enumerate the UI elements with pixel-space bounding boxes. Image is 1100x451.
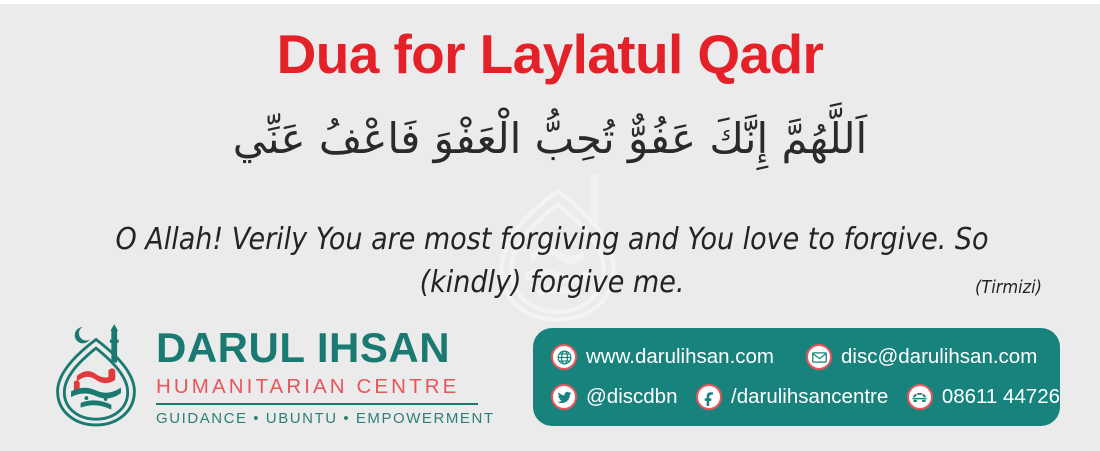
twitter-handle: @discdbn	[586, 385, 677, 409]
telephone-icon	[907, 384, 933, 410]
mosque-dome-emblem-icon	[48, 324, 144, 428]
english-translation: O Allah! Verily You are most forgiving a…	[92, 219, 1012, 304]
logo-subtitle: HUMANITARIAN CENTRE	[156, 369, 495, 400]
contact-row-social: @discdbn /darulihsancentre	[551, 377, 1060, 417]
hadith-attribution: (Tirmizi)	[975, 277, 1042, 298]
twitter-contact[interactable]: @discdbn	[551, 384, 677, 410]
contact-panel: www.darulihsan.com disc@darulihsan.com	[533, 328, 1060, 426]
arabic-dua-text: اَللَّهُمَّ إِنَّكَ عَفُوٌّ تُحِبُّ الْع…	[0, 106, 1100, 171]
globe-icon	[551, 344, 577, 370]
page-title: Dua for Laylatul Qadr	[0, 22, 1100, 86]
twitter-bird-icon	[551, 384, 577, 410]
contact-row-primary: www.darulihsan.com disc@darulihsan.com	[551, 337, 1060, 377]
email-contact[interactable]: disc@darulihsan.com	[806, 344, 1037, 370]
dua-poster: Dua for Laylatul Qadr اَللَّهُمَّ إِنَّك…	[0, 0, 1100, 451]
facebook-icon	[696, 384, 722, 410]
facebook-contact[interactable]: /darulihsancentre	[696, 384, 888, 410]
website-label: www.darulihsan.com	[586, 345, 774, 369]
facebook-page: /darulihsancentre	[731, 385, 888, 409]
logo-tagline: GUIDANCE • UBUNTU • EMPOWERMENT	[156, 405, 495, 427]
top-edge-strip	[0, 0, 1100, 4]
logo-name: DARUL IHSAN	[156, 327, 495, 369]
phone-contact[interactable]: 08611 44726	[907, 384, 1060, 410]
logo-text-block: DARUL IHSAN HUMANITARIAN CENTRE GUIDANCE…	[156, 325, 495, 427]
email-label: disc@darulihsan.com	[841, 345, 1037, 369]
organisation-logo: DARUL IHSAN HUMANITARIAN CENTRE GUIDANCE…	[48, 322, 478, 430]
website-contact[interactable]: www.darulihsan.com	[551, 344, 774, 370]
envelope-icon	[806, 344, 832, 370]
phone-number: 08611 44726	[942, 385, 1060, 409]
